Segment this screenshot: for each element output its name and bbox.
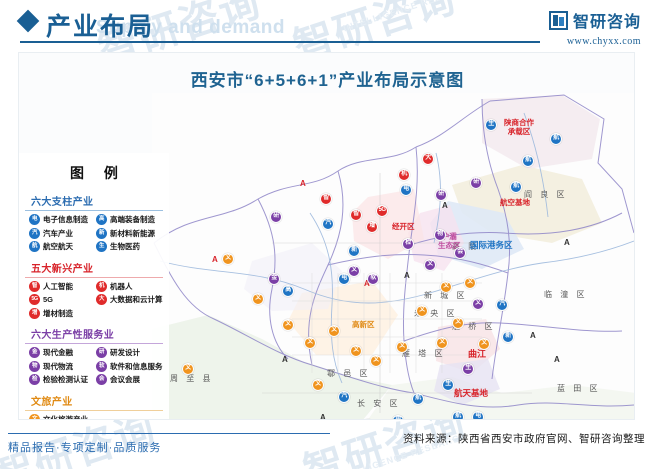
area-letter-administrative: A bbox=[320, 413, 326, 420]
map-marker[interactable]: 生 bbox=[442, 379, 454, 391]
legend-item-label: 机器人 bbox=[110, 281, 133, 292]
legend-item[interactable]: 电 电子信息制造 bbox=[29, 214, 96, 225]
map-marker[interactable]: 文 bbox=[436, 337, 448, 349]
map-marker[interactable]: 增 bbox=[366, 221, 378, 233]
legend-item-label: 文化旅游产业 bbox=[43, 414, 88, 421]
legend-item-label: 软件和信息服务 bbox=[110, 361, 163, 372]
district-label: 长 安 区 bbox=[357, 398, 400, 409]
map-marker[interactable]: 文 bbox=[348, 265, 360, 277]
map-marker[interactable]: 文 bbox=[440, 281, 452, 293]
map-marker[interactable]: 文 bbox=[464, 277, 476, 289]
map-marker[interactable]: 文 bbox=[252, 293, 264, 305]
slide-page: 智研咨询 智研咨询 INTELLIGENCE RESEARCH 智研咨询 智研咨… bbox=[0, 0, 653, 469]
map-marker[interactable]: 文 bbox=[472, 298, 484, 310]
legend-item-label: 高端装备制造 bbox=[110, 214, 155, 225]
map-marker[interactable]: 文 bbox=[282, 319, 294, 331]
map-marker[interactable]: 电 bbox=[338, 273, 350, 285]
area-letter-administrative: A bbox=[530, 331, 536, 340]
legend-item[interactable]: 生 生物医药 bbox=[96, 241, 163, 252]
legend-item-label: 新材料新能源 bbox=[110, 228, 155, 239]
legend-item[interactable]: 文 文化旅游产业 bbox=[29, 414, 163, 421]
map-marker[interactable]: 电 bbox=[362, 419, 374, 420]
brand-block: 智研咨询 www.chyxx.com bbox=[549, 8, 641, 47]
zone-label-qujiang: 曲江 bbox=[468, 349, 486, 359]
map-marker[interactable]: 电 bbox=[400, 184, 412, 196]
map-marker[interactable]: 5G bbox=[376, 205, 388, 217]
map-marker[interactable]: 文 bbox=[328, 325, 340, 337]
industry-icon-modern-logistics: 物 bbox=[29, 361, 40, 372]
legend-item[interactable]: 大 大数据和云计算 bbox=[96, 294, 163, 305]
industry-icon-electronics: 电 bbox=[29, 214, 40, 225]
industry-icon-bigdata-cloud: 大 bbox=[96, 294, 107, 305]
diamond-bullet-icon bbox=[17, 10, 40, 33]
page-header: Supply and demand 产业布局 智研咨询 www.chyxx.co… bbox=[0, 0, 653, 52]
zone-label-aerospace-base: 航天基地 bbox=[454, 389, 488, 399]
page-title: 产业布局 bbox=[46, 7, 154, 43]
map-marker[interactable]: 会 bbox=[454, 247, 466, 259]
legend-item-label: 5G bbox=[43, 295, 53, 304]
map-canvas[interactable]: 周 至 县 鄠 邑 区 长 安 区 高 陵 阎 良 区 临 潼 区 蓝 田 区 … bbox=[152, 93, 635, 420]
area-letter-administrative: A bbox=[404, 271, 410, 280]
legend-item-label: 现代金融 bbox=[43, 347, 73, 358]
district-label: 临 潼 区 bbox=[544, 289, 587, 300]
map-marker[interactable]: 文 bbox=[478, 338, 490, 350]
brand-name: 智研咨询 bbox=[573, 8, 641, 32]
industry-icon-software-it-services: 软 bbox=[96, 361, 107, 372]
industry-icon-culture-tourism: 文 bbox=[29, 414, 40, 421]
area-letter-development: A bbox=[212, 255, 218, 264]
industry-icon-new-materials: 新 bbox=[96, 228, 107, 239]
map-marker[interactable]: 航 bbox=[412, 393, 424, 405]
legend-item-label: 检验检测认证 bbox=[43, 374, 88, 385]
map-marker[interactable]: 文 bbox=[370, 355, 382, 367]
legend-item[interactable]: 会 会议会展 bbox=[96, 374, 163, 385]
map-marker[interactable]: 物 bbox=[434, 229, 446, 241]
footer-tagline: 精品报告·专项定制·品质服务 bbox=[8, 439, 161, 455]
area-letter-administrative: A bbox=[554, 355, 560, 364]
map-marker[interactable]: 汽 bbox=[496, 299, 508, 311]
district-label: 周 至 县 bbox=[170, 373, 213, 384]
legend-item[interactable]: 航 航空航天 bbox=[29, 241, 96, 252]
legend-item[interactable]: 机 机器人 bbox=[96, 281, 163, 292]
map-marker[interactable]: 研 bbox=[470, 177, 482, 189]
legend-group-heading: 文旅产业 bbox=[25, 391, 163, 411]
map-legend: 图 例 六大支柱产业 电 电子信息制造 高 高端装备制造 汽 汽车产业 bbox=[19, 153, 169, 420]
map-marker[interactable]: 金 bbox=[268, 273, 280, 285]
legend-item[interactable]: 研 研发设计 bbox=[96, 347, 163, 358]
legend-item-label: 增材制造 bbox=[43, 308, 73, 319]
legend-group-heading: 六大支柱产业 bbox=[25, 191, 163, 211]
legend-item[interactable]: 智 人工智能 bbox=[29, 281, 96, 292]
legend-group-culture-tourism: 文旅产业 文 文化旅游产业 bbox=[25, 391, 163, 421]
industry-icon-rd-design: 研 bbox=[96, 347, 107, 358]
legend-item[interactable]: 汽 汽车产业 bbox=[29, 228, 96, 239]
map-marker[interactable]: 检 bbox=[402, 238, 414, 250]
map-marker[interactable]: 文 bbox=[222, 253, 234, 265]
map-panel: 西安市“6+5+6+1”产业布局示意图 bbox=[18, 52, 635, 420]
map-marker[interactable]: 文 bbox=[396, 341, 408, 353]
map-marker[interactable]: 研 bbox=[270, 211, 282, 223]
legend-group-heading: 六大生产性服务业 bbox=[25, 324, 163, 344]
map-marker[interactable]: 智 bbox=[320, 193, 332, 205]
industry-icon-biomedicine: 生 bbox=[96, 241, 107, 252]
map-marker[interactable]: 大 bbox=[422, 153, 434, 165]
industry-icon-inspection-certification: 检 bbox=[29, 374, 40, 385]
legend-item[interactable]: 物 现代物流 bbox=[29, 361, 96, 372]
zone-label-gaoxin: 高新区 bbox=[352, 321, 375, 330]
legend-group-heading: 五大新兴产业 bbox=[25, 258, 163, 278]
source-note: 资料来源：陕西省西安市政府官网、智研咨询整理 bbox=[403, 431, 645, 446]
legend-item-label: 航空航天 bbox=[43, 241, 73, 252]
legend-title: 图 例 bbox=[25, 153, 163, 191]
area-letter-administrative: A bbox=[282, 355, 288, 364]
district-label: 阎 良 区 bbox=[524, 189, 567, 200]
legend-item[interactable]: 检 检验检测认证 bbox=[29, 374, 96, 385]
map-marker[interactable]: 文 bbox=[304, 337, 316, 349]
area-letter-development: A bbox=[300, 179, 306, 188]
map-marker[interactable]: 文 bbox=[424, 259, 436, 271]
map-marker[interactable]: 电 bbox=[392, 415, 404, 420]
legend-item[interactable]: 增 增材制造 bbox=[29, 308, 96, 319]
industry-icon-modern-finance: 金 bbox=[29, 347, 40, 358]
brand-url[interactable]: www.chyxx.com bbox=[549, 36, 641, 47]
map-marker[interactable]: 软 bbox=[367, 273, 379, 285]
industry-icon-ai: 智 bbox=[29, 281, 40, 292]
brand-logo-icon bbox=[549, 11, 568, 30]
industry-icon-conventions-exhibitions: 会 bbox=[96, 374, 107, 385]
industry-icon-aerospace: 航 bbox=[29, 241, 40, 252]
district-label: 雁 塔 区 bbox=[402, 348, 445, 359]
district-label: 蓝 田 区 bbox=[557, 383, 600, 394]
map-marker[interactable]: 文 bbox=[350, 345, 362, 357]
legend-item[interactable]: 金 现代金融 bbox=[29, 347, 96, 358]
map-marker[interactable]: 机 bbox=[398, 169, 410, 181]
map-marker[interactable]: 电 bbox=[472, 411, 484, 420]
map-marker[interactable]: 生 bbox=[462, 363, 474, 375]
map-marker[interactable]: 航 bbox=[510, 181, 522, 193]
legend-item-label: 大数据和云计算 bbox=[110, 294, 163, 305]
map-marker[interactable]: 文 bbox=[182, 363, 194, 375]
legend-item-label: 电子信息制造 bbox=[43, 214, 88, 225]
map-marker[interactable]: 生 bbox=[485, 119, 497, 131]
legend-item[interactable]: 5G 5G bbox=[29, 294, 96, 305]
industry-icon-robotics: 机 bbox=[96, 281, 107, 292]
header-divider bbox=[20, 41, 540, 43]
area-letter-administrative: A bbox=[442, 201, 448, 210]
map-marker[interactable]: 研 bbox=[435, 189, 447, 201]
zone-label-aviation-base: 航空基地 bbox=[500, 199, 530, 208]
legend-item-label: 人工智能 bbox=[43, 281, 73, 292]
map-marker[interactable]: 文 bbox=[416, 305, 428, 317]
industry-icon-additive-mfg: 增 bbox=[29, 308, 40, 319]
legend-item-label: 汽车产业 bbox=[43, 228, 73, 239]
footer-divider bbox=[8, 433, 330, 434]
map-marker[interactable]: 航 bbox=[522, 155, 534, 167]
legend-item-label: 研发设计 bbox=[110, 347, 140, 358]
map-marker[interactable]: 智 bbox=[350, 209, 362, 221]
legend-item-label: 现代物流 bbox=[43, 361, 73, 372]
industry-icon-high-end-equipment: 高 bbox=[96, 214, 107, 225]
industry-icon-automotive: 汽 bbox=[29, 228, 40, 239]
map-marker[interactable]: 新 bbox=[348, 245, 360, 257]
district-label: 鄠 邑 区 bbox=[327, 368, 370, 379]
legend-item[interactable]: 高 高端装备制造 bbox=[96, 214, 163, 225]
map-marker[interactable]: 高 bbox=[282, 285, 294, 297]
map-marker[interactable]: 文 bbox=[312, 379, 324, 391]
industry-icon-5g: 5G bbox=[29, 294, 40, 305]
map-marker[interactable]: 汽 bbox=[338, 391, 350, 403]
map-marker[interactable]: 文 bbox=[452, 317, 464, 329]
page-footer: 精品报告·专项定制·品质服务 资料来源：陕西省西安市政府官网、智研咨询整理 bbox=[0, 423, 653, 469]
area-letter-administrative: A bbox=[564, 238, 570, 247]
legend-item-label: 生物医药 bbox=[110, 241, 140, 252]
legend-item-label: 会议会展 bbox=[110, 374, 140, 385]
map-marker[interactable]: 汽 bbox=[322, 218, 334, 230]
legend-group-pillar-industries: 六大支柱产业 电 电子信息制造 高 高端装备制造 汽 汽车产业 bbox=[25, 191, 163, 255]
legend-group-producer-services: 六大生产性服务业 金 现代金融 研 研发设计 物 现代物流 bbox=[25, 324, 163, 388]
map-marker[interactable]: 新 bbox=[502, 331, 514, 343]
zone-label-jingkai: 经开区 bbox=[392, 223, 415, 232]
map-marker[interactable]: 航 bbox=[452, 411, 464, 420]
zone-label-shaanxi-cooperation: 陕商合作 承载区 bbox=[504, 119, 534, 136]
legend-item[interactable]: 软 软件和信息服务 bbox=[96, 361, 163, 372]
legend-item[interactable]: 新 新材料新能源 bbox=[96, 228, 163, 239]
zone-label-intl-port: 国际港务区 bbox=[470, 241, 513, 251]
map-marker[interactable]: 航 bbox=[550, 133, 562, 145]
legend-group-emerging-industries: 五大新兴产业 智 人工智能 机 机器人 5G 5G 大 bbox=[25, 258, 163, 322]
map-title: 西安市“6+5+6+1”产业布局示意图 bbox=[19, 66, 635, 91]
